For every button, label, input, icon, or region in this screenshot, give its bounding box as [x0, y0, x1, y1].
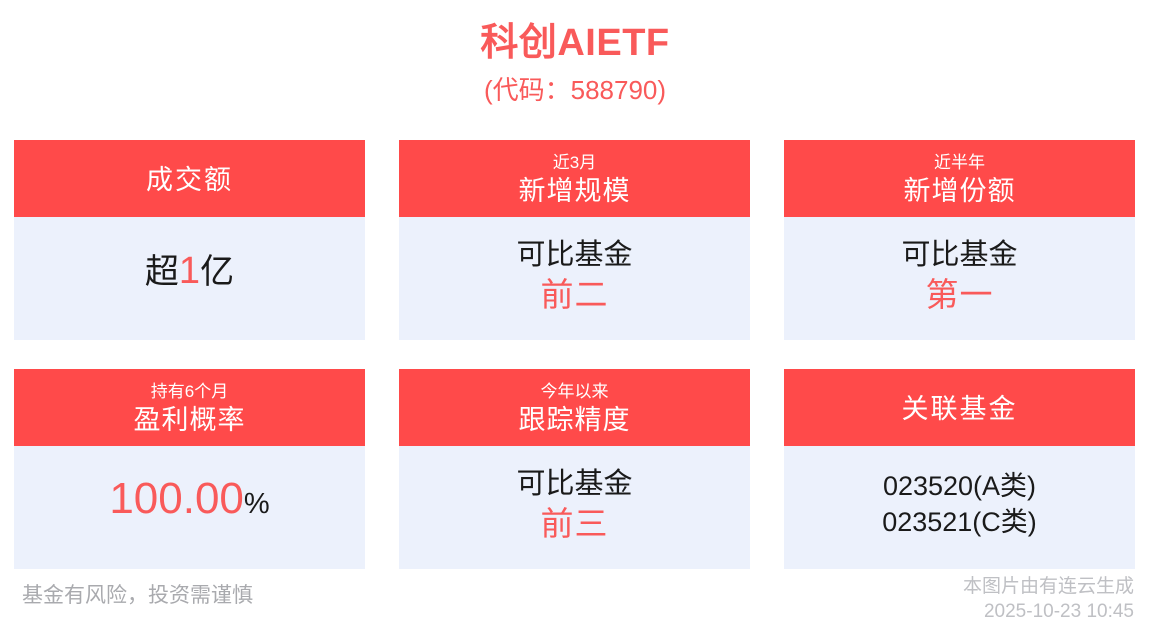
metric-card-new-shares-6m[interactable]: 近半年 新增份额 可比基金 第一	[784, 140, 1135, 340]
metric-card-profit-probability[interactable]: 持有6个月 盈利概率 100.00%	[14, 369, 365, 569]
card-eyebrow: 今年以来	[541, 381, 609, 403]
card-eyebrow: 持有6个月	[151, 381, 228, 403]
metric-card-linked-funds[interactable]: 关联基金 023520(A类) 023521(C类)	[784, 369, 1135, 569]
page-title: 科创AIETF	[0, 0, 1150, 66]
risk-disclaimer: 基金有风险，投资需谨慎	[22, 582, 253, 610]
page-footer: 基金有风险，投资需谨慎 本图片由有连云生成 2025-10-23 10:45	[0, 570, 1150, 632]
generator-stamp: 本图片由有连云生成 2025-10-23 10:45	[963, 574, 1134, 624]
card-header: 成交额	[14, 140, 365, 217]
value-line-rank: 第一	[926, 275, 994, 315]
value-line-rank: 前二	[541, 275, 609, 315]
card-header: 关联基金	[784, 369, 1135, 446]
card-header: 今年以来 跟踪精度	[399, 369, 750, 446]
card-body: 100.00%	[14, 446, 365, 569]
card-body: 超1亿	[14, 217, 365, 340]
fund-code: (代码：588790)	[0, 66, 1150, 106]
card-body: 可比基金 第一	[784, 217, 1135, 340]
generator-source: 本图片由有连云生成	[963, 574, 1134, 599]
metric-card-turnover[interactable]: 成交额 超1亿	[14, 140, 365, 340]
card-heading: 成交额	[146, 163, 233, 197]
card-heading: 关联基金	[902, 392, 1018, 426]
value-line-primary: 可比基金	[516, 235, 632, 275]
value-number: 1	[179, 250, 200, 292]
linked-fund-code-c: 023521(C类)	[882, 504, 1037, 540]
card-header: 近半年 新增份额	[784, 140, 1135, 217]
generator-timestamp: 2025-10-23 10:45	[963, 599, 1134, 624]
card-heading: 新增份额	[904, 174, 1016, 208]
value-line-primary: 可比基金	[516, 464, 632, 504]
linked-fund-code-a: 023520(A类)	[883, 468, 1036, 504]
metric-card-new-scale-3m[interactable]: 近3月 新增规模 可比基金 前二	[399, 140, 750, 340]
card-heading: 新增规模	[519, 174, 631, 208]
metric-card-tracking-accuracy[interactable]: 今年以来 跟踪精度 可比基金 前三	[399, 369, 750, 569]
card-heading: 盈利概率	[134, 403, 246, 437]
value-number: 100.00	[109, 474, 244, 523]
card-heading: 跟踪精度	[519, 403, 631, 437]
card-body: 可比基金 前三	[399, 446, 750, 569]
value-unit: %	[244, 488, 270, 520]
value-line-rank: 前三	[541, 504, 609, 544]
value-line-primary: 可比基金	[901, 235, 1017, 275]
card-eyebrow: 近半年	[934, 152, 985, 174]
value-suffix: 亿	[200, 253, 234, 291]
page-header: 科创AIETF (代码：588790)	[0, 0, 1150, 130]
profit-probability-value: 100.00%	[109, 473, 269, 535]
value-prefix: 超	[145, 253, 179, 291]
card-body: 023520(A类) 023521(C类)	[784, 446, 1135, 569]
card-header: 持有6个月 盈利概率	[14, 369, 365, 446]
card-header: 近3月 新增规模	[399, 140, 750, 217]
turnover-value: 超1亿	[145, 247, 234, 303]
metric-card-grid: 成交额 超1亿 近3月 新增规模 可比基金 前二 近半年 新增份额 可比基金 第…	[14, 140, 1136, 569]
card-eyebrow: 近3月	[553, 152, 596, 174]
card-body: 可比基金 前二	[399, 217, 750, 340]
